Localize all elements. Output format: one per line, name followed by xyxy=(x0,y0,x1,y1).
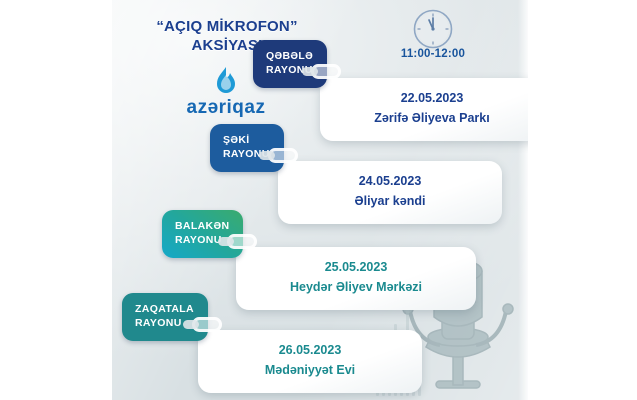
connector-nub xyxy=(192,317,222,332)
event-place: Mədəniyyət Evi xyxy=(212,360,408,380)
event-place: Zərifə Əliyeva Parkı xyxy=(334,108,528,128)
poster-page: “AÇIQ MİKROFON” AKSİYASI azəriqaz xyxy=(0,0,637,400)
district-name: QƏBƏLƏ xyxy=(266,49,313,63)
logo-wordmark: azəriqaz xyxy=(140,98,312,117)
district-name: ZAQATALA xyxy=(135,302,194,316)
event-place: Əliyar kəndi xyxy=(292,191,488,211)
district-badge-seki[interactable]: ŞƏKİ RAYONU xyxy=(210,124,284,172)
district-badge-balaken[interactable]: BALAKƏN RAYONU xyxy=(162,210,243,258)
district-badge-qebele[interactable]: QƏBƏLƏ RAYONU xyxy=(253,40,327,88)
connector-nub xyxy=(227,234,257,249)
connector-nub xyxy=(311,64,341,79)
district-name: ŞƏKİ xyxy=(223,133,270,147)
time-range-label: 11:00-12:00 xyxy=(384,48,482,60)
headline-line-1: “AÇIQ MİKROFON” xyxy=(112,18,342,37)
poster-canvas: “AÇIQ MİKROFON” AKSİYASI azəriqaz xyxy=(112,0,528,400)
event-date: 22.05.2023 xyxy=(334,89,528,108)
district-badge-zaqatala[interactable]: ZAQATALA RAYONU xyxy=(122,293,208,341)
event-card-3[interactable]: 25.05.2023 Heydər Əliyev Mərkəzi xyxy=(236,247,476,310)
connector-nub xyxy=(268,148,298,163)
event-card-1[interactable]: 22.05.2023 Zərifə Əliyeva Parkı xyxy=(320,78,528,141)
poster-right-edge xyxy=(518,0,528,400)
district-name: BALAKƏN xyxy=(175,219,229,233)
flame-icon xyxy=(213,66,239,96)
event-card-2[interactable]: 24.05.2023 Əliyar kəndi xyxy=(278,161,502,224)
event-date: 26.05.2023 xyxy=(212,341,408,360)
event-date: 24.05.2023 xyxy=(292,172,488,191)
event-card-4[interactable]: 26.05.2023 Mədəniyyət Evi xyxy=(198,330,422,393)
event-place: Heydər Əliyev Mərkəzi xyxy=(250,277,462,297)
event-date: 25.05.2023 xyxy=(250,258,462,277)
